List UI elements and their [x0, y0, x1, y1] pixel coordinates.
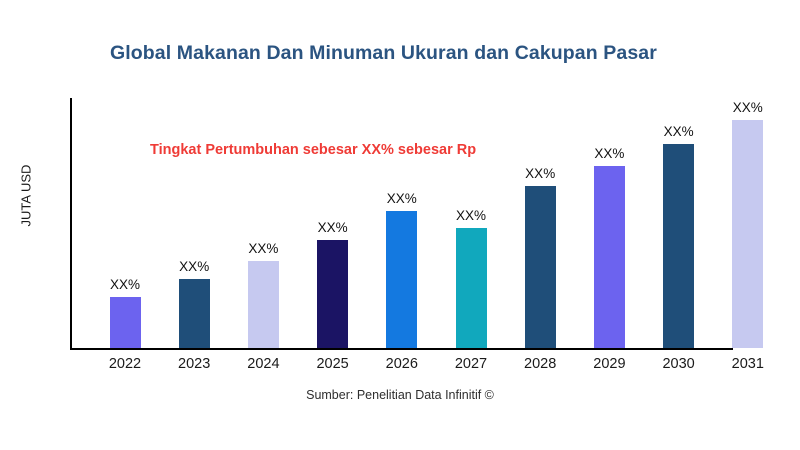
source-note: Sumber: Penelitian Data Infinitif © [0, 388, 800, 402]
bar-value-label: XX% [179, 259, 209, 274]
bar-value-label: XX% [525, 166, 555, 181]
bar-value-label: XX% [664, 124, 694, 139]
x-tick-2030: 2030 [649, 356, 709, 372]
plot-area: Tingkat Pertumbuhan sebesar XX% sebesar … [0, 0, 800, 450]
x-tick-2028: 2028 [510, 356, 570, 372]
x-tick-2027: 2027 [441, 356, 501, 372]
bar-2030[interactable]: XX% [663, 144, 694, 348]
bar-value-label: XX% [110, 277, 140, 292]
x-tick-2022: 2022 [95, 356, 155, 372]
x-tick-2031: 2031 [718, 356, 778, 372]
x-tick-2023: 2023 [164, 356, 224, 372]
bar-2023[interactable]: XX% [179, 279, 210, 348]
bar-2029[interactable]: XX% [594, 166, 625, 348]
bar-2022[interactable]: XX% [110, 297, 141, 348]
bar-2024[interactable]: XX% [248, 261, 279, 348]
growth-rate-annotation: Tingkat Pertumbuhan sebesar XX% sebesar … [150, 142, 476, 158]
bar-2028[interactable]: XX% [525, 186, 556, 348]
bar-2025[interactable]: XX% [317, 240, 348, 348]
bar-value-label: XX% [387, 191, 417, 206]
bar-value-label: XX% [733, 100, 763, 115]
bar-value-label: XX% [248, 241, 278, 256]
x-tick-2025: 2025 [303, 356, 363, 372]
bar-value-label: XX% [318, 220, 348, 235]
x-axis-line [70, 348, 733, 350]
bar-2031[interactable]: XX% [732, 120, 763, 348]
x-tick-2026: 2026 [372, 356, 432, 372]
y-axis-line [70, 98, 72, 350]
bar-value-label: XX% [594, 146, 624, 161]
bar-2027[interactable]: XX% [456, 228, 487, 348]
x-tick-2029: 2029 [579, 356, 639, 372]
bar-chart: Global Makanan Dan Minuman Ukuran dan Ca… [0, 0, 800, 450]
x-tick-2024: 2024 [233, 356, 293, 372]
bar-value-label: XX% [456, 208, 486, 223]
bar-2026[interactable]: XX% [386, 211, 417, 348]
